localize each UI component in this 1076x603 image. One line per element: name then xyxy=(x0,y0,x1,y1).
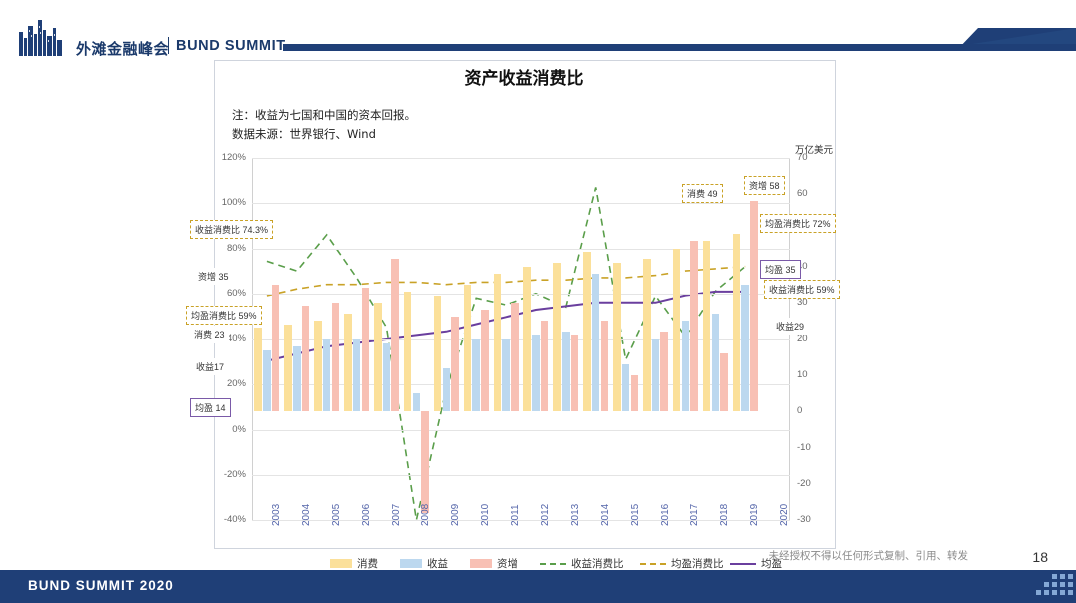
legend-item: 均盈消费比 xyxy=(640,556,724,571)
chart-bar xyxy=(712,314,720,412)
chart-plot-area: -40%-20%0%20%40%60%80%100%120%-30-20-100… xyxy=(252,158,790,520)
y-axis-right-tick: 40 xyxy=(797,261,827,272)
x-axis-tick: 2017 xyxy=(689,504,700,526)
chart-annotation: 收益17 xyxy=(192,358,228,375)
chart-annotation: 均盈 14 xyxy=(190,398,231,417)
chart-bar xyxy=(362,288,370,411)
chart-annotation: 收益29 xyxy=(772,318,808,335)
y-axis-left-tick: -20% xyxy=(206,469,246,480)
chart-bar xyxy=(631,375,639,411)
chart-bar xyxy=(344,314,352,412)
chart-annotation: 均盈 35 xyxy=(760,260,801,279)
chart-bar xyxy=(541,321,549,412)
brand-name-cn: 外滩金融峰会 xyxy=(76,38,169,59)
x-axis-tick: 2004 xyxy=(301,504,312,526)
slide-footer: BUND SUMMIT 2020 xyxy=(0,570,1076,603)
chart-bar xyxy=(472,339,480,411)
x-axis-tick: 2020 xyxy=(779,504,790,526)
x-axis-tick: 2006 xyxy=(361,504,372,526)
chart-bar xyxy=(532,335,540,411)
legend-label: 消费 xyxy=(357,556,378,571)
chart-note-line2: 数据未源：世界银行、Wind xyxy=(232,125,416,144)
chart-bar xyxy=(263,350,271,412)
y-axis-left-tick: 20% xyxy=(206,378,246,389)
y-axis-left-tick: 120% xyxy=(206,152,246,163)
right-axis-unit: 万亿美元 xyxy=(795,142,833,156)
legend-label: 收益消费比 xyxy=(571,556,624,571)
chart-bar xyxy=(332,303,340,412)
chart-title: 资产收益消费比 xyxy=(214,64,834,89)
header-bar xyxy=(283,44,1076,51)
y-axis-left-tick: -40% xyxy=(206,514,246,525)
chart-bar xyxy=(720,353,728,411)
legend-swatch xyxy=(400,559,422,568)
brand-divider xyxy=(168,37,169,54)
legend-swatch xyxy=(730,563,756,565)
x-axis-tick: 2012 xyxy=(540,504,551,526)
chart-bar xyxy=(511,303,519,412)
y-axis-right-tick: 60 xyxy=(797,188,827,199)
chart-bar xyxy=(571,335,579,411)
chart-bar xyxy=(613,263,621,411)
legend-swatch xyxy=(640,563,666,565)
x-axis-tick: 2007 xyxy=(391,504,402,526)
y-axis-right-tick: 0 xyxy=(797,405,827,416)
y-axis-right-tick: 10 xyxy=(797,369,827,380)
chart-bar xyxy=(622,364,630,411)
chart-bar xyxy=(413,393,421,411)
legend-item: 资增 xyxy=(470,556,518,571)
legend-label: 收益 xyxy=(427,556,448,571)
chart-annotation: 均盈消费比 72% xyxy=(760,214,836,233)
chart-bar xyxy=(391,259,399,411)
legend-item: 收益消费比 xyxy=(540,556,624,571)
x-axis-tick: 2008 xyxy=(420,504,431,526)
x-axis-tick: 2015 xyxy=(630,504,641,526)
chart-bar xyxy=(733,234,741,411)
chart-bar xyxy=(323,339,331,411)
chart-annotation: 资增 58 xyxy=(744,176,785,195)
chart-bar xyxy=(443,368,451,411)
y-axis-left-tick: 100% xyxy=(206,197,246,208)
y-axis-right-tick: -20 xyxy=(797,478,827,489)
chart-bar xyxy=(383,343,391,412)
chart-bar xyxy=(494,274,502,412)
chart-bar xyxy=(750,201,758,411)
chart-bar xyxy=(284,325,292,412)
chart-bar xyxy=(421,411,429,512)
chart-bar xyxy=(673,249,681,412)
chart-bar xyxy=(652,339,660,411)
legend-swatch xyxy=(330,559,352,568)
chart-bar xyxy=(643,259,651,411)
x-axis-tick: 2019 xyxy=(749,504,760,526)
x-axis-tick: 2014 xyxy=(600,504,611,526)
chart-annotation: 均盈消费比 59% xyxy=(186,306,262,325)
chart-bar xyxy=(404,292,412,411)
chart-annotation: 资增 35 xyxy=(194,268,233,285)
legend-swatch xyxy=(540,563,566,565)
disclaimer-text: 未经授权不得以任何形式复制、引用、转发 xyxy=(769,548,969,563)
chart-bar xyxy=(451,317,459,411)
x-axis-tick: 2010 xyxy=(480,504,491,526)
footer-title: BUND SUMMIT 2020 xyxy=(28,578,174,593)
x-axis-tick: 2018 xyxy=(719,504,730,526)
chart-bar xyxy=(690,241,698,411)
page-number: 18 xyxy=(1032,549,1048,565)
chart-bar xyxy=(434,296,442,412)
x-axis-tick: 2016 xyxy=(660,504,671,526)
chart-bar xyxy=(601,321,609,412)
gridline xyxy=(252,158,790,159)
chart-bar xyxy=(353,339,361,411)
chart-bar xyxy=(293,346,301,411)
chart-bar xyxy=(374,303,382,412)
x-axis-tick: 2009 xyxy=(450,504,461,526)
chart-bar xyxy=(553,263,561,411)
chart-bar xyxy=(302,306,310,411)
chart-bar xyxy=(464,285,472,412)
chart-bar xyxy=(583,252,591,411)
x-axis-tick: 2013 xyxy=(570,504,581,526)
chart-annotation: 消费 23 xyxy=(190,326,229,343)
chart-bar xyxy=(523,267,531,412)
gridline xyxy=(252,430,790,431)
chart-bar xyxy=(682,321,690,412)
chart-bar xyxy=(562,332,570,412)
chart-annotation: 收益消费比 59% xyxy=(764,280,840,299)
legend-swatch xyxy=(470,559,492,568)
chart-bar xyxy=(592,274,600,412)
chart-annotation: 收益消费比 74.3% xyxy=(190,220,273,239)
chart-bar xyxy=(481,310,489,411)
chart-annotation: 消费 49 xyxy=(682,184,723,203)
chart-note-line1: 注：收益为七国和中国的资本回报。 xyxy=(232,106,416,125)
legend-label: 均盈消费比 xyxy=(671,556,724,571)
skyline-logo-icon xyxy=(18,18,64,56)
chart-bar xyxy=(272,285,280,412)
legend-item: 消费 xyxy=(330,556,378,571)
y-axis-right-tick: -10 xyxy=(797,442,827,453)
brand-name-en: BUND SUMMIT xyxy=(176,38,286,54)
gridline xyxy=(252,475,790,476)
x-axis-tick: 2005 xyxy=(331,504,342,526)
y-axis-left-tick: 0% xyxy=(206,424,246,435)
x-axis-tick: 2011 xyxy=(510,504,521,526)
y-axis-left-tick: 60% xyxy=(206,288,246,299)
y-axis-right-tick: -30 xyxy=(797,514,827,525)
chart-bar xyxy=(254,328,262,411)
chart-bar xyxy=(314,321,322,412)
chart-bar xyxy=(703,241,711,411)
footer-dot-pattern xyxy=(956,570,1076,603)
chart-bar xyxy=(741,285,749,412)
legend-label: 资增 xyxy=(497,556,518,571)
gridline xyxy=(252,203,790,204)
y-axis-left-tick: 80% xyxy=(206,243,246,254)
chart-bar xyxy=(502,339,510,411)
legend-item: 收益 xyxy=(400,556,448,571)
chart-bar xyxy=(660,332,668,412)
chart-note: 注：收益为七国和中国的资本回报。 数据未源：世界银行、Wind xyxy=(232,106,416,144)
x-axis-tick: 2003 xyxy=(271,504,282,526)
